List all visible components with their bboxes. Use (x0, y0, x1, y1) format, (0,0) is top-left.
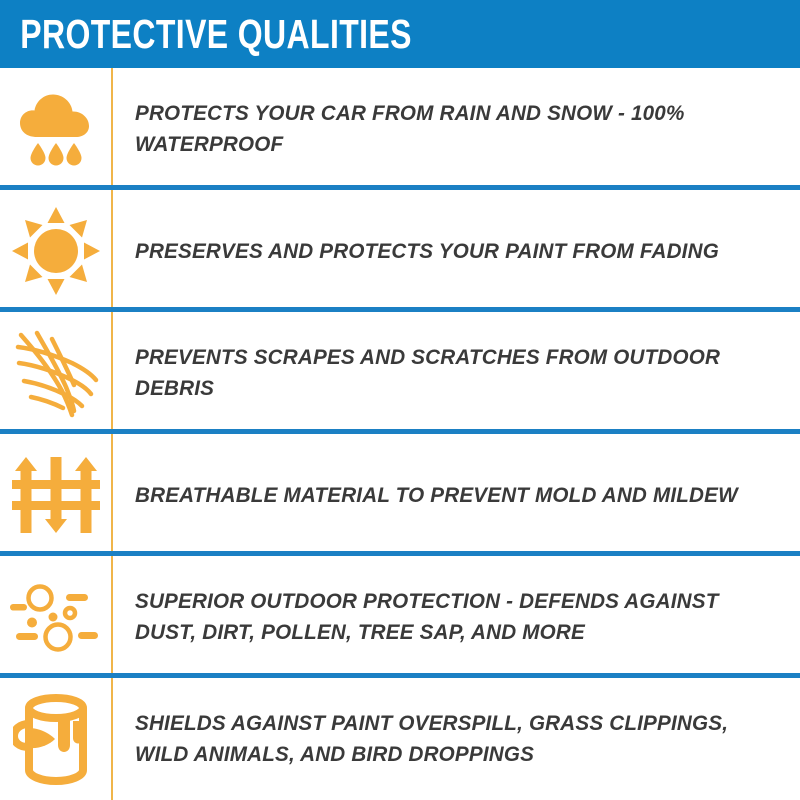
list-item: BREATHABLE MATERIAL TO PREVENT MOLD AND … (0, 434, 800, 556)
column-rule (111, 678, 113, 800)
breathable-arrows-icon (10, 449, 102, 541)
text-cell: PREVENTS SCRAPES AND SCRATCHES FROM OUTD… (112, 342, 800, 403)
scratches-mesh-icon (10, 325, 102, 421)
column-rule (111, 312, 113, 434)
list-item: PRESERVES AND PROTECTS YOUR PAINT FROM F… (0, 190, 800, 312)
rain-cloud-icon (12, 85, 100, 173)
paint-can-icon (13, 690, 99, 788)
list-item-label: PRESERVES AND PROTECTS YOUR PAINT FROM F… (135, 236, 760, 267)
list-item-label: PROTECTS YOUR CAR FROM RAIN AND SNOW - 1… (135, 98, 760, 159)
header-bar: PROTECTIVE QUALITIES (0, 0, 800, 68)
list-item: PREVENTS SCRAPES AND SCRATCHES FROM OUTD… (0, 312, 800, 434)
column-rule (111, 68, 113, 190)
column-rule (111, 556, 113, 678)
list-item-label: PREVENTS SCRAPES AND SCRATCHES FROM OUTD… (135, 342, 760, 403)
icon-cell (0, 556, 112, 678)
list-item-label: BREATHABLE MATERIAL TO PREVENT MOLD AND … (135, 480, 760, 511)
protective-qualities-infographic: PROTECTIVE QUALITIES PROTECTS YOUR CAR F… (0, 0, 800, 800)
feature-list: PROTECTS YOUR CAR FROM RAIN AND SNOW - 1… (0, 68, 800, 800)
text-cell: SHIELDS AGAINST PAINT OVERSPILL, GRASS C… (112, 708, 800, 769)
list-item: SUPERIOR OUTDOOR PROTECTION - DEFENDS AG… (0, 556, 800, 678)
icon-cell (0, 312, 112, 434)
icon-cell (0, 678, 112, 800)
text-cell: PRESERVES AND PROTECTS YOUR PAINT FROM F… (112, 236, 800, 267)
list-item: PROTECTS YOUR CAR FROM RAIN AND SNOW - 1… (0, 68, 800, 190)
column-rule (111, 434, 113, 556)
icon-cell (0, 68, 112, 190)
text-cell: BREATHABLE MATERIAL TO PREVENT MOLD AND … (112, 480, 800, 511)
list-item-label: SHIELDS AGAINST PAINT OVERSPILL, GRASS C… (135, 708, 760, 769)
icon-cell (0, 190, 112, 312)
dust-particles-icon (8, 577, 104, 657)
page-title: PROTECTIVE QUALITIES (0, 14, 412, 55)
list-item-label: SUPERIOR OUTDOOR PROTECTION - DEFENDS AG… (135, 586, 760, 647)
column-rule (111, 190, 113, 312)
icon-cell (0, 434, 112, 556)
text-cell: PROTECTS YOUR CAR FROM RAIN AND SNOW - 1… (112, 98, 800, 159)
text-cell: SUPERIOR OUTDOOR PROTECTION - DEFENDS AG… (112, 586, 800, 647)
list-item: SHIELDS AGAINST PAINT OVERSPILL, GRASS C… (0, 678, 800, 800)
sun-icon (10, 205, 102, 297)
